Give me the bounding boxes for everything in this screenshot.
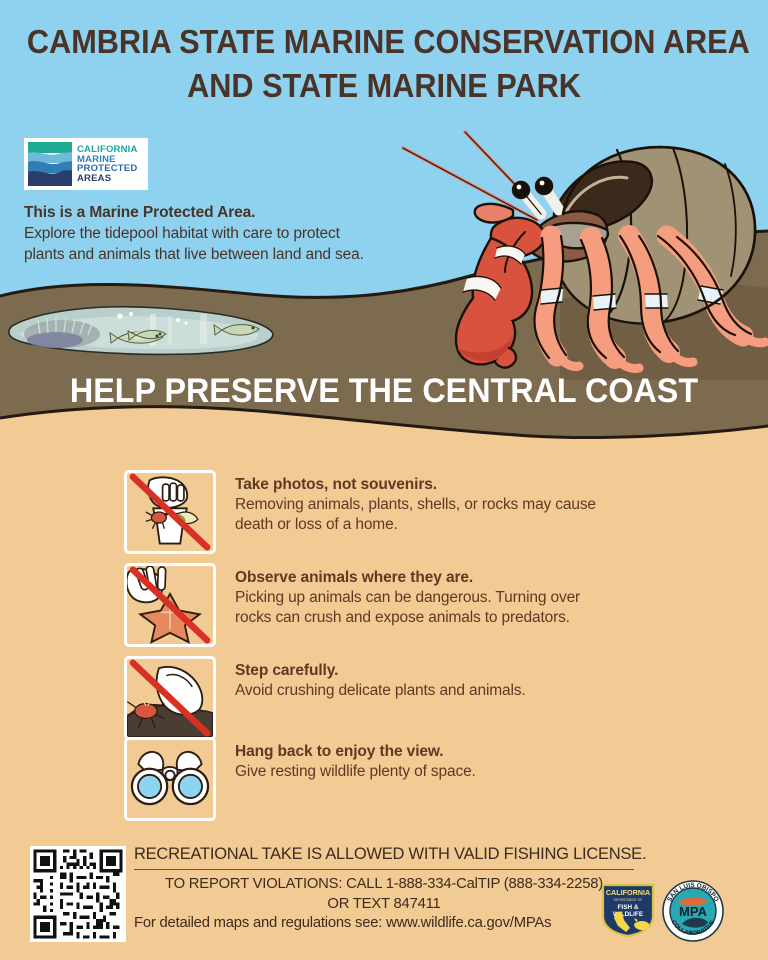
intro-body-line-2: plants and animals that live between lan…	[24, 245, 454, 266]
logo-wordmark: CALIFORNIA MARINE PROTECTED AREAS	[77, 145, 138, 183]
title-line-2: AND STATE MARINE PARK	[27, 64, 741, 108]
svg-text:CALIFORNIA: CALIFORNIA	[606, 888, 650, 897]
svg-text:FISH &: FISH &	[618, 904, 639, 911]
footer-headline: RECREATIONAL TAKE IS ALLOWED WITH VALID …	[134, 845, 634, 868]
divider	[134, 869, 634, 870]
rule-body-line-1: Give resting wildlife plenty of space.	[235, 762, 476, 782]
footer-report-line: TO REPORT VIOLATIONS: CALL 1-888-334-Cal…	[134, 875, 634, 895]
svg-text:MPA: MPA	[679, 904, 708, 919]
list-item: Hang back to enjoy the view. Give restin…	[124, 737, 684, 815]
title-line-1: CAMBRIA STATE MARINE CONSERVATION AREA	[27, 20, 741, 64]
qr-code[interactable]	[30, 846, 126, 942]
rule-text: Take photos, not souvenirs. Removing ani…	[216, 470, 596, 535]
rule-body-line-2: death or loss of a home.	[235, 515, 596, 535]
agency-logos: CALIFORNIA DEPARTMENT OF FISH & WILDLIFE…	[600, 880, 750, 942]
rule-title: Step carefully.	[235, 662, 526, 680]
svg-text:DEPARTMENT OF: DEPARTMENT OF	[614, 898, 643, 902]
footer-text-block: RECREATIONAL TAKE IS ALLOWED WITH VALID …	[134, 845, 634, 934]
intro-headline: This is a Marine Protected Area.	[24, 204, 454, 222]
hand-bucket-collecting-no-icon	[124, 470, 216, 554]
rule-title: Observe animals where they are.	[235, 569, 580, 587]
intro-text-block: This is a Marine Protected Area. Explore…	[24, 204, 454, 265]
list-item: Step carefully. Avoid crushing delicate …	[124, 656, 684, 734]
poster-canvas: CAMBRIA STATE MARINE CONSERVATION AREA A…	[0, 0, 768, 960]
rules-list: Take photos, not souvenirs. Removing ani…	[124, 470, 684, 818]
page-title: CAMBRIA STATE MARINE CONSERVATION AREA A…	[0, 20, 768, 107]
rule-body-line-1: Picking up animals can be dangerous. Tur…	[235, 588, 580, 608]
rule-text: Step carefully. Avoid crushing delicate …	[216, 656, 526, 701]
rule-text: Hang back to enjoy the view. Give restin…	[216, 737, 476, 782]
intro-body-line-1: Explore the tidepool habitat with care t…	[24, 224, 454, 245]
rule-text: Observe animals where they are. Picking …	[216, 563, 580, 628]
banner-headline: HELP PRESERVE THE CENTRAL COAST	[0, 372, 768, 411]
marine-protected-areas-logo: CALIFORNIA MARINE PROTECTED AREAS	[24, 138, 148, 190]
binoculars-icon	[124, 737, 216, 821]
logo-waves-icon	[28, 142, 72, 186]
california-department-of-fish-and-wildlife-logo: CALIFORNIA DEPARTMENT OF FISH & WILDLIFE	[600, 882, 656, 938]
rule-body-line-2: rocks can crush and expose animals to pr…	[235, 608, 580, 628]
footer-maps-line: For detailed maps and regulations see: w…	[134, 914, 634, 934]
list-item: Take photos, not souvenirs. Removing ani…	[124, 470, 684, 560]
rule-body-line-1: Avoid crushing delicate plants and anima…	[235, 681, 526, 701]
list-item: Observe animals where they are. Picking …	[124, 563, 684, 653]
rule-title: Hang back to enjoy the view.	[235, 743, 476, 761]
rule-title: Take photos, not souvenirs.	[235, 476, 596, 494]
foot-stepping-on-animals-no-icon	[124, 656, 216, 740]
logo-line-areas: AREAS	[77, 174, 138, 184]
hand-grabbing-sea-star-no-icon	[124, 563, 216, 647]
banner-text: HELP PRESERVE THE CENTRAL COAST	[19, 372, 749, 411]
tidepool-illustration	[0, 292, 300, 362]
footer-text-line: OR TEXT 847411	[134, 895, 634, 915]
san-luis-obispo-mpa-collaborative-logo: MPA SAN LUIS OBISPO COLLABORATIVE	[662, 880, 724, 942]
rule-body-line-1: Removing animals, plants, shells, or roc…	[235, 495, 596, 515]
